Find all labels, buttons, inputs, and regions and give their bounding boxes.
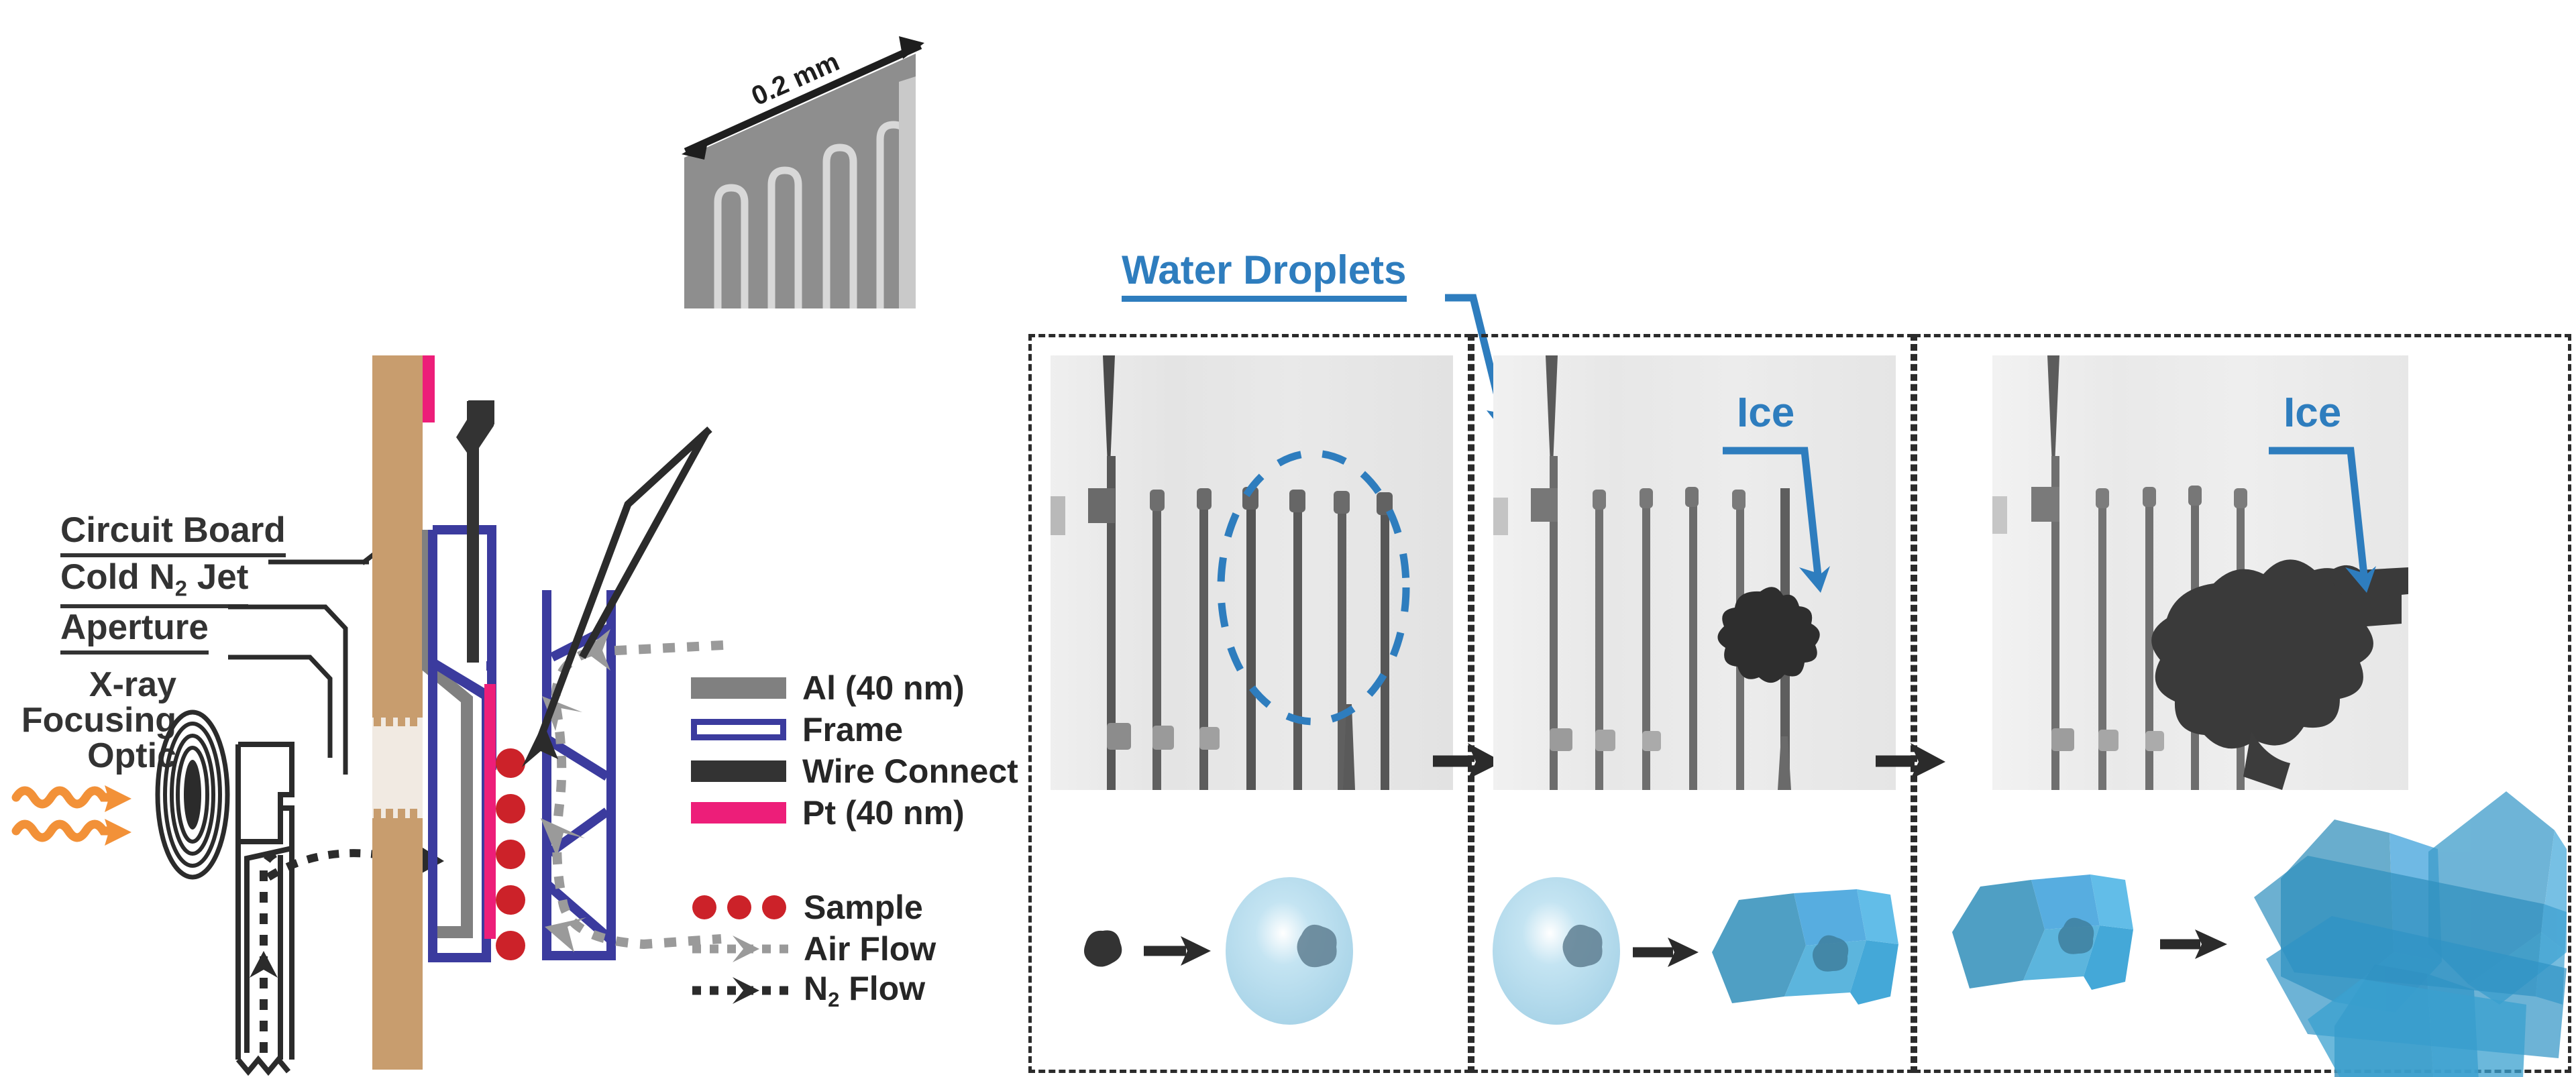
panel-3-ice-leader-arrow xyxy=(2266,448,2387,602)
legend-item-al: Al (40 nm) xyxy=(691,667,1018,709)
legend-label-n2flow-sub: 2 xyxy=(828,988,839,1011)
legend-label-airflow: Air Flow xyxy=(804,929,936,968)
panel-1-radiograph xyxy=(1051,355,1453,790)
legend-label-pt: Pt (40 nm) xyxy=(802,793,965,832)
legend-label-frame: Frame xyxy=(802,710,903,749)
panel-2-ice-label: Ice xyxy=(1737,389,1794,437)
legend-item-n2flow: N2 Flow xyxy=(691,970,936,1011)
circuit-board xyxy=(372,355,423,718)
sem-chip-image: 0.2 mm xyxy=(678,20,932,308)
callout-circuit-board: Circuit Board xyxy=(60,510,286,557)
circuit-board-castellation xyxy=(372,710,423,827)
callout-cold-n2-jet-sub: 2 xyxy=(175,576,187,601)
callout-cold-n2-jet-prefix: Cold N xyxy=(60,557,175,597)
legend-label-wire: Wire Connect xyxy=(802,752,1018,791)
panel-2-ice-leader-arrow xyxy=(1720,448,1841,602)
legend-swatch-frame xyxy=(691,719,786,740)
panel-3-cartoon xyxy=(1932,731,2569,1066)
nozzle-assembly xyxy=(221,724,396,1076)
xray-optic-line3: Optic xyxy=(19,738,176,774)
water-droplets-label: Water Droplets xyxy=(1122,247,1407,302)
legend-item-wire: Wire Connect xyxy=(691,750,1018,792)
legend-label-sample: Sample xyxy=(804,888,923,927)
callout-aperture: Aperture xyxy=(60,607,209,655)
sem-leader-lines xyxy=(496,429,718,805)
legend-swatch-pt xyxy=(691,802,786,824)
xray-optic-line1: X-ray xyxy=(19,667,176,703)
focusing-optic-icon xyxy=(154,711,231,878)
callout-cold-n2-jet: Cold N2 Jet xyxy=(60,557,248,608)
panel-2-cartoon xyxy=(1491,865,1886,1046)
panel-3-ice-label: Ice xyxy=(2284,389,2341,437)
legend-flows: Sample Air Flow N2 Flow xyxy=(691,887,936,1011)
legend-swatch-wire xyxy=(691,760,786,782)
legend-materials: Al (40 nm) Frame Wire Connect Pt (40 nm) xyxy=(691,667,1018,834)
legend-item-airflow: Air Flow xyxy=(691,928,936,970)
legend-item-pt: Pt (40 nm) xyxy=(691,792,1018,834)
legend-swatch-al xyxy=(691,677,786,699)
legend-item-sample: Sample xyxy=(691,887,936,928)
legend-swatch-sample xyxy=(691,894,792,921)
panel-1-dashed-circle xyxy=(1051,355,1453,790)
xray-optic-label: X-ray Focusing Optic xyxy=(19,667,176,774)
legend-item-frame: Frame xyxy=(691,709,1018,750)
legend-label-n2flow-prefix: N xyxy=(804,970,828,1007)
legend-swatch-n2flow xyxy=(691,976,792,1005)
legend-label-al: Al (40 nm) xyxy=(802,669,965,707)
circuit-board-lower xyxy=(372,818,423,1070)
legend-label-n2flow-suffix: Flow xyxy=(839,970,925,1007)
xray-optic-line2: Focusing xyxy=(19,703,176,738)
legend-label-n2flow: N2 Flow xyxy=(804,969,925,1012)
scale-bar-label: 0.2 mm xyxy=(0,0,1,1)
xray-beam-icon xyxy=(13,781,154,855)
callout-cold-n2-jet-suffix: Jet xyxy=(187,557,248,597)
panel-1-cartoon xyxy=(1073,872,1422,1039)
legend-swatch-airflow xyxy=(691,934,792,964)
